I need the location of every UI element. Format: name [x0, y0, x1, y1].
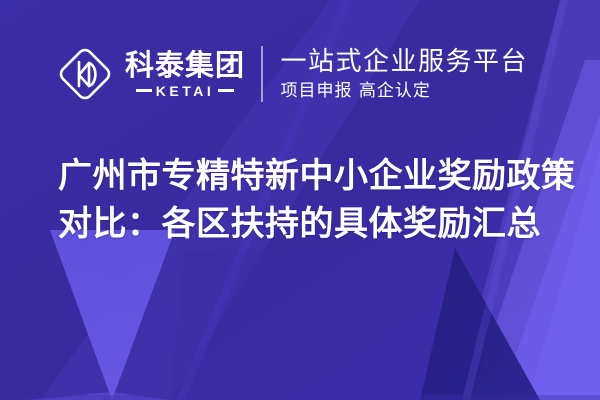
tagline-block: 一站式企业服务平台 项目申报 高企认定	[281, 47, 529, 101]
page-title-line-2: 对比：各区扶持的具体奖励汇总	[58, 200, 558, 248]
brand-wordmark: 科泰集团 KETAI	[125, 50, 245, 97]
wordmark-dash-left	[136, 89, 152, 92]
ketai-diamond-logo-icon	[55, 44, 115, 104]
tagline-main: 一站式企业服务平台	[281, 47, 529, 78]
banner-header: 科泰集团 KETAI 一站式企业服务平台 项目申报 高企认定	[55, 38, 528, 110]
page-title-line-1: 广州市专精特新中小企业奖励政策	[58, 152, 558, 200]
brand-name-en: KETAI	[156, 84, 214, 98]
promo-banner: 科泰集团 KETAI 一站式企业服务平台 项目申报 高企认定 广州市专精特新中小…	[0, 0, 600, 400]
wordmark-dash-right	[218, 89, 234, 92]
header-divider	[261, 46, 263, 102]
brand-name-cn: 科泰集团	[125, 50, 245, 80]
page-title: 广州市专精特新中小企业奖励政策 对比：各区扶持的具体奖励汇总	[58, 152, 558, 248]
banner-content: 科泰集团 KETAI 一站式企业服务平台 项目申报 高企认定 广州市专精特新中小…	[0, 0, 600, 400]
tagline-sub: 项目申报 高企认定	[281, 82, 529, 101]
brand-name-en-row: KETAI	[136, 84, 234, 98]
